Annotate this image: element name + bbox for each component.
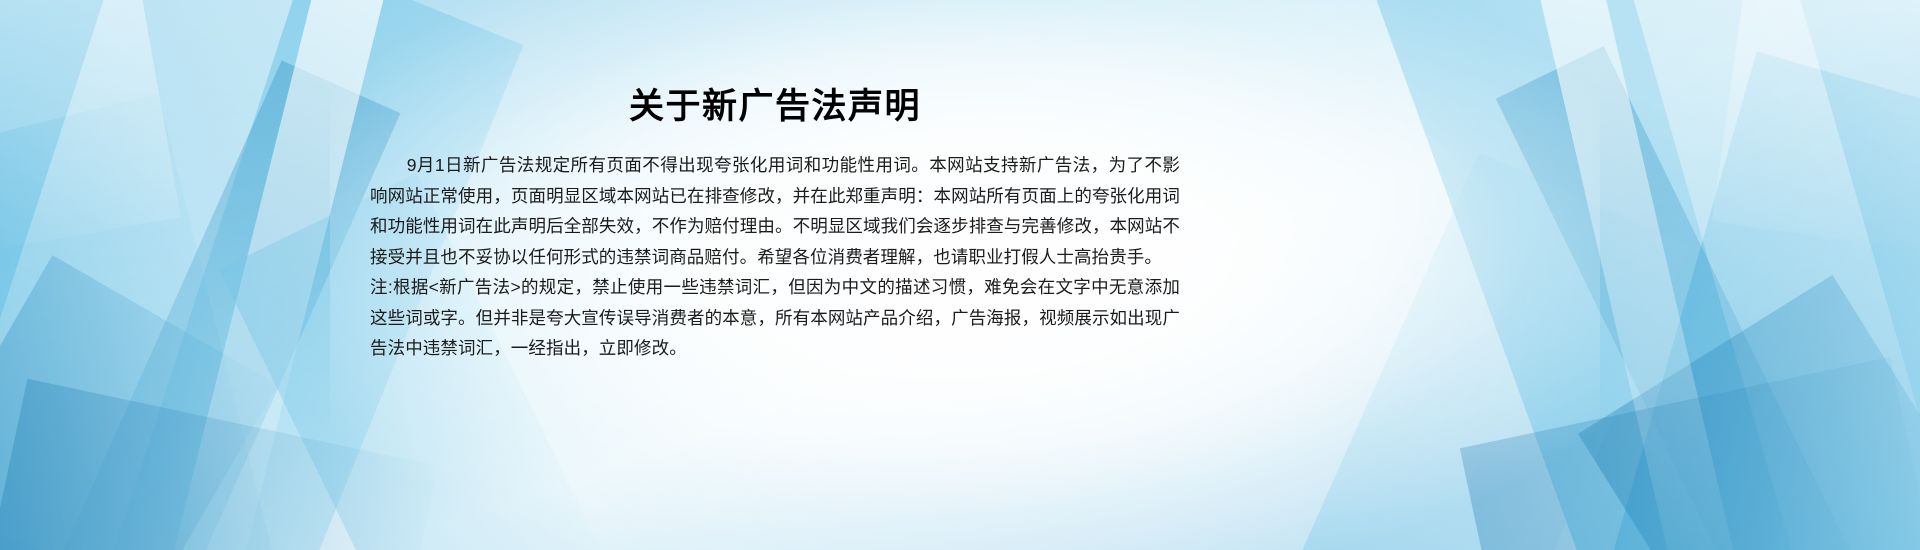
decorative-shard-right-4	[1496, 46, 1884, 550]
decorative-shard-left-6	[156, 0, 393, 550]
decorative-shard-left-4	[30, 60, 401, 550]
statement-content: 关于新广告法声明 9月1日新广告法规定所有页面不得出现夸张化用词和功能性用词。本…	[370, 0, 1180, 550]
decorative-shard-left-9	[0, 0, 181, 259]
decorative-shard-right-7	[1300, 152, 1689, 550]
banner-stage: 关于新广告法声明 9月1日新广告法规定所有页面不得出现夸张化用词和功能性用词。本…	[0, 0, 1920, 550]
decorative-shard-right-1	[1377, 0, 1920, 550]
decorative-shard-left-3	[0, 0, 324, 550]
decorative-shard-right-2	[1575, 51, 1920, 550]
decorative-shard-left-5	[0, 255, 278, 550]
page-title: 关于新广告法声明	[370, 86, 1180, 128]
decorative-shard-right-6	[1526, 0, 1750, 550]
decorative-shard-right-8	[1460, 357, 1920, 550]
statement-body: 9月1日新广告法规定所有页面不得出现夸张化用词和功能性用词。本网站支持新广告法，…	[370, 150, 1180, 364]
decorative-shard-right-3	[1598, 0, 1920, 550]
statement-paragraph-note: 注:根据<新广告法>的规定，禁止使用一些违禁词汇，但因为中文的描述习惯，难免会在…	[370, 272, 1180, 364]
statement-paragraph-main: 9月1日新广告法规定所有页面不得出现夸张化用词和功能性用词。本网站支持新广告法，…	[370, 150, 1180, 272]
decorative-shard-right-5	[1578, 275, 1920, 550]
decorative-shard-right-9	[1712, 0, 1920, 256]
decorative-shard-left-2	[0, 93, 313, 550]
